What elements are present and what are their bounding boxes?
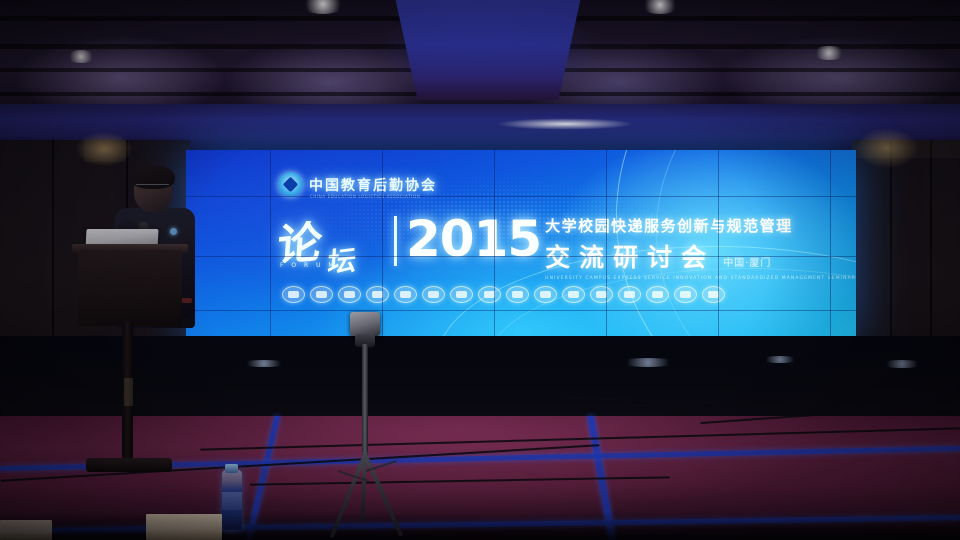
stage-apron: [0, 336, 960, 424]
leaf-icon: [646, 286, 669, 303]
floor-glint: [618, 358, 678, 367]
document-icon: [310, 286, 333, 303]
calligraphy-char-bottom: 坛: [326, 238, 357, 281]
headline-stack: 大学校园快递服务创新与规范管理 交流研讨会 中国·厦门 UNIVERSITY C…: [545, 215, 856, 281]
cloud-icon: [478, 286, 501, 303]
headline-subtitle-en: UNIVERSITY CAMPUS EXPRESS SERVICE INNOVA…: [545, 276, 856, 281]
bottle-cap: [225, 464, 238, 473]
place-card: [0, 520, 52, 540]
bar-icon: [674, 286, 697, 303]
led-panel-seam: [718, 150, 719, 342]
pen-icon: [450, 286, 473, 303]
lectern-crest: [124, 378, 133, 406]
valance-highlight: [470, 116, 660, 132]
ceiling: [0, 0, 960, 120]
person-icon: [562, 286, 585, 303]
bottle-label: [222, 492, 242, 510]
led-panel-seam: [606, 150, 607, 342]
lectern: [78, 250, 182, 326]
keyboard-icon: [422, 286, 445, 303]
red-carpet-floor: [0, 416, 960, 540]
video-camera: [350, 312, 380, 336]
mountain-icon: [282, 286, 305, 303]
led-panel-seam: [270, 150, 271, 342]
event-title-lockup: 论 坛 F O R U M 2015 大学校园快递服务创新与规范管理 交流研讨会…: [274, 212, 856, 281]
ceiling-downlight-icon: [812, 46, 846, 60]
floor-glint: [760, 356, 800, 363]
wall-sconce-icon: [76, 132, 132, 166]
envelope-icon: [534, 286, 557, 303]
service-icon-strip: [282, 286, 725, 303]
title-divider: [394, 216, 397, 266]
box-icon: [506, 286, 529, 303]
clock-icon: [394, 286, 417, 303]
led-panel-seam: [186, 196, 856, 197]
shirt-badge-icon: [170, 228, 177, 235]
lectern-base: [86, 458, 172, 472]
association-emblem-icon: [278, 172, 303, 197]
conference-stage-photo: 中国教育后勤协会 CHINA EDUCATION LOGISTICS ASSOC…: [0, 0, 960, 540]
carpet-foreground-shadow: [0, 512, 960, 540]
association-name-cn: 中国教育后勤协会: [309, 175, 437, 195]
phone-icon: [590, 286, 613, 303]
led-panel-seam: [186, 256, 856, 257]
led-panel-seam: [830, 150, 831, 342]
tripod-column: [362, 344, 368, 460]
eyeglasses-icon: [136, 184, 169, 192]
card-icon: [366, 286, 389, 303]
globe-icon: [702, 286, 725, 303]
place-card: [146, 514, 222, 540]
forum-romanized: F O R U M: [280, 262, 337, 269]
led-video-wall: 中国教育后勤协会 CHINA EDUCATION LOGISTICS ASSOC…: [186, 150, 856, 342]
lock-icon: [338, 286, 361, 303]
floor-glint: [240, 360, 288, 367]
led-panel-seam: [494, 150, 495, 342]
floor-glint: [880, 360, 924, 368]
led-panel-seam: [382, 150, 383, 342]
led-panel-seam: [186, 310, 856, 311]
recycle-icon: [618, 286, 641, 303]
forum-calligraphy: 论 坛 F O R U M: [274, 212, 392, 278]
ceiling-downlight-icon: [66, 50, 96, 63]
headline-line-1: 大学校园快递服务创新与规范管理: [545, 215, 856, 236]
wall-sconce-icon: [856, 128, 918, 168]
